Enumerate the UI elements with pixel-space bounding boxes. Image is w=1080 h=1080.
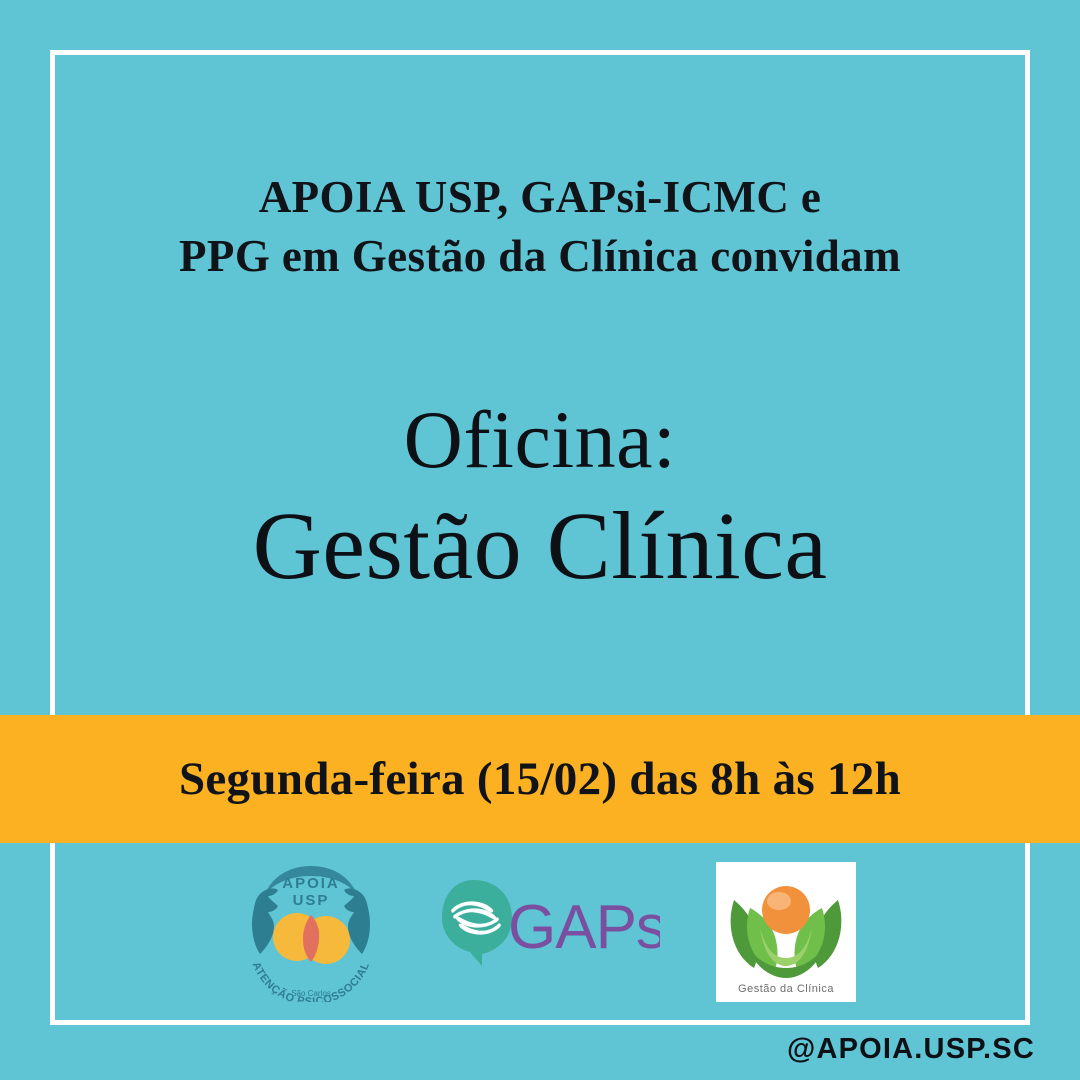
header-line-2: PPG em Gestão da Clínica convidam — [0, 227, 1080, 286]
gestao-da-clinica-icon: Gestão da Clínica — [716, 862, 856, 1002]
poster-canvas: APOIA USP, GAPsi-ICMC e PPG em Gestão da… — [0, 0, 1080, 1080]
header-line-1: APOIA USP, GAPsi-ICMC e — [0, 168, 1080, 227]
header-block: APOIA USP, GAPsi-ICMC e PPG em Gestão da… — [0, 168, 1080, 285]
apoia-usp-top-label-2: USP — [293, 892, 330, 909]
gapsi-wordmark: GAPsi — [508, 893, 660, 962]
title-line-2: Gestão Clínica — [0, 487, 1080, 604]
date-banner-text: Segunda-feira (15/02) das 8h às 12h — [179, 752, 901, 806]
gestao-da-clinica-caption: Gestão da Clínica — [738, 983, 834, 995]
apoia-usp-icon: APOIA USP ATENÇÃO PSICOSSOCIAL São Carlo… — [238, 862, 384, 1002]
page-title: Oficina: Gestão Clínica — [0, 392, 1080, 604]
gapsi-icon: GAPsi — [432, 862, 660, 1002]
logo-row: APOIA USP ATENÇÃO PSICOSSOCIAL São Carlo… — [0, 862, 1080, 1002]
logo-gapsi: GAPsi — [432, 862, 660, 1002]
date-banner: Segunda-feira (15/02) das 8h às 12h — [0, 715, 1080, 843]
instagram-handle: @APOIA.USP.SC — [787, 1033, 1035, 1066]
logo-gestao-da-clinica: Gestão da Clínica — [716, 862, 856, 1002]
apoia-usp-top-label: APOIA — [282, 875, 340, 892]
title-line-1: Oficina: — [0, 392, 1080, 487]
logo-apoia-usp: APOIA USP ATENÇÃO PSICOSSOCIAL São Carlo… — [238, 862, 384, 1002]
apoia-usp-sub-label: São Carlos — [291, 989, 331, 998]
